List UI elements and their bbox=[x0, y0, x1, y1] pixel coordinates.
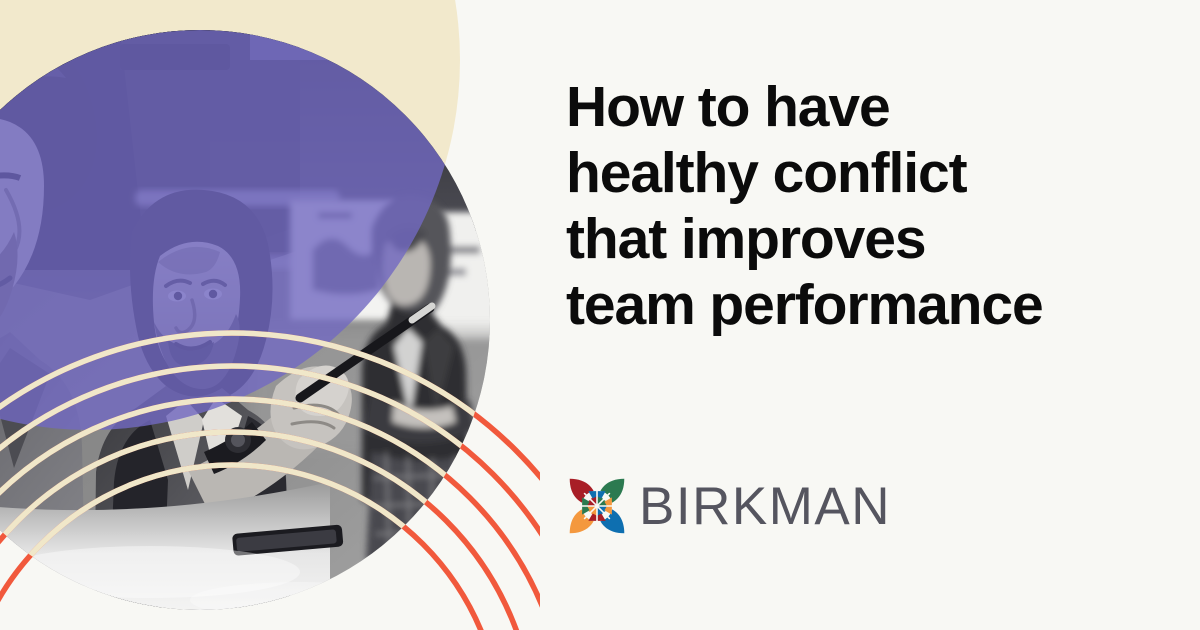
page-title: How to have healthy conflict that improv… bbox=[566, 74, 1166, 338]
birkman-wordmark: BIRKMAN bbox=[639, 480, 891, 533]
birkman-logo-lockup: BIRKMAN bbox=[566, 471, 891, 541]
content-column: How to have healthy conflict that improv… bbox=[566, 0, 1186, 630]
hero-graphic bbox=[0, 0, 540, 630]
social-share-card: How to have healthy conflict that improv… bbox=[0, 0, 1200, 630]
birkman-petal-logo-icon bbox=[566, 475, 628, 537]
